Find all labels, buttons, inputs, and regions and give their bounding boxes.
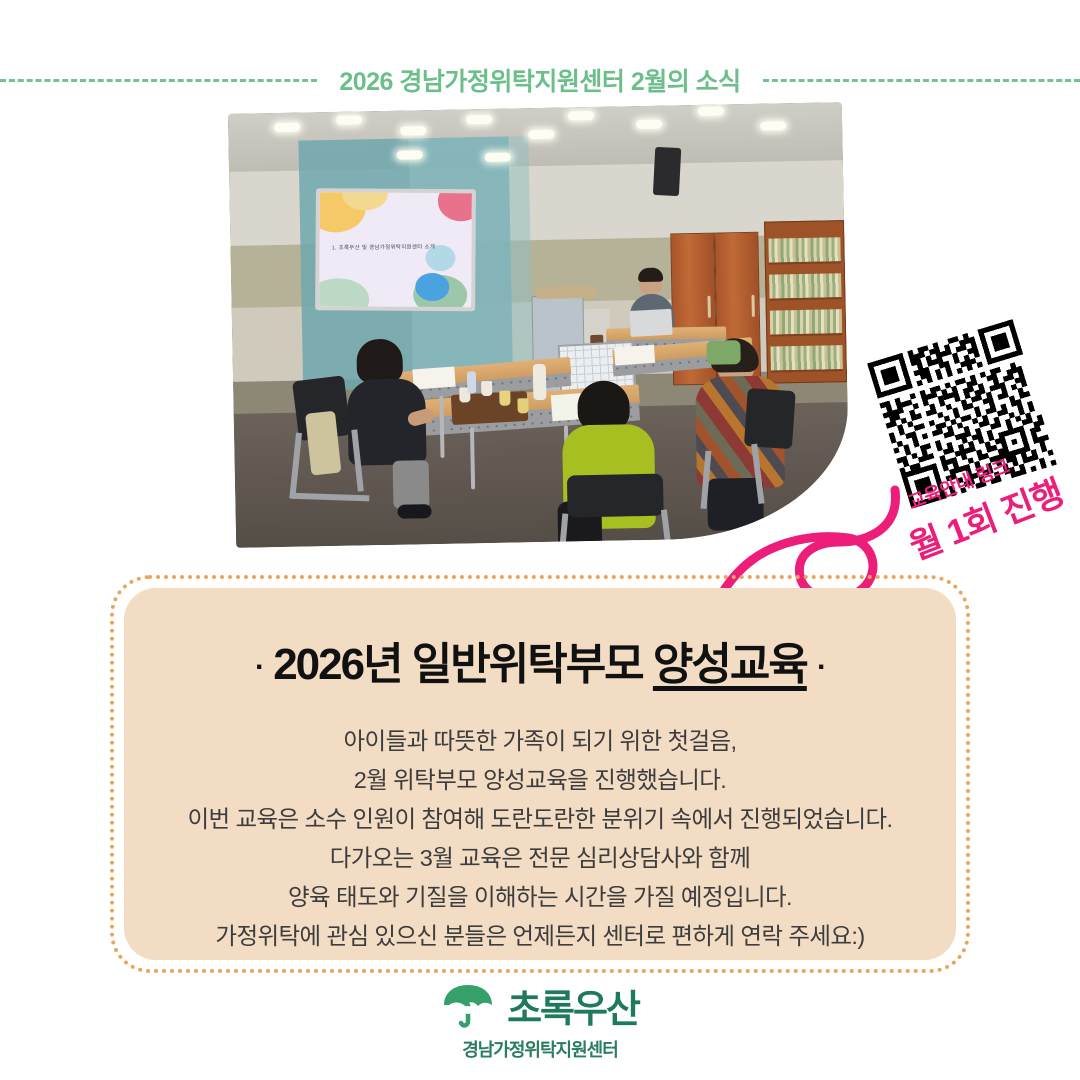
teapot xyxy=(481,381,492,396)
hair xyxy=(638,268,663,282)
bookshelf-row xyxy=(770,309,842,336)
header-title: 2026 경남가정위탁지원센터 2월의 소식 xyxy=(339,62,740,98)
bag-on-chair xyxy=(305,411,341,476)
body-line-2: 2월 위탁부모 양성교육을 진행했습니다. xyxy=(124,761,956,800)
handout xyxy=(412,367,455,390)
green-bag xyxy=(706,340,740,365)
training-photo: 1. 초록우산 및 경남가정위탁지원센터 소개 xyxy=(228,102,850,548)
hair xyxy=(356,339,403,384)
chair xyxy=(744,388,796,449)
logo-brand-name: 초록우산 xyxy=(507,978,639,1033)
bookshelf xyxy=(764,220,847,384)
slide-blob xyxy=(319,278,369,307)
title-underlined-text: 양성교육 xyxy=(653,640,807,689)
projector-screen: 1. 초록우산 및 경남가정위탁지원센터 소개 xyxy=(315,188,476,311)
bookshelf-row xyxy=(769,273,841,300)
teacup xyxy=(499,391,510,406)
slide-title-text: 1. 초록우산 및 경남가정위탁지원센터 소개 xyxy=(332,242,462,251)
teacup xyxy=(517,398,528,413)
bookshelf-row xyxy=(768,237,840,264)
thermos xyxy=(533,364,547,400)
page-header: 2026 경남가정위탁지원센터 2월의 소식 xyxy=(0,60,1080,100)
green-umbrella-icon xyxy=(441,983,497,1029)
title-plain-text: 2026년 일반위탁부모 xyxy=(273,640,642,689)
classroom-scene: 1. 초록우산 및 경남가정위탁지원센터 소개 xyxy=(228,102,850,548)
body-line-1: 아이들과 따뜻한 가족이 되기 위한 첫걸음, xyxy=(124,722,956,761)
ceiling-light xyxy=(485,153,511,162)
slide-blob xyxy=(415,273,449,301)
water-bottle xyxy=(467,371,476,393)
ceiling-light xyxy=(274,123,300,132)
body-line-6: 가정위탁에 관심 있으신 분들은 언제든지 센터로 편하게 연락 주세요:) xyxy=(124,917,956,956)
body-line-4: 다가오는 3월 교육은 전문 심리상담사와 함께 xyxy=(124,839,956,878)
ceiling-light xyxy=(568,111,594,120)
header-dash-left xyxy=(0,79,317,82)
card-body: 아이들과 따뜻한 가족이 되기 위한 첫걸음, 2월 위탁부모 양성교육을 진행… xyxy=(124,722,956,956)
title-dot-left: · xyxy=(255,650,263,683)
ceiling-light xyxy=(636,120,662,129)
slide-blob xyxy=(438,192,472,221)
footer-logo: 초록우산 경남가정위탁지원센터 xyxy=(0,978,1080,1062)
ceiling-light xyxy=(400,126,426,135)
ceiling-light xyxy=(760,121,786,130)
bookshelf-row xyxy=(770,345,842,372)
body-line-5: 양육 태도와 기질을 이해하는 시간을 가질 예정입니다. xyxy=(124,878,956,917)
ceiling-light xyxy=(336,115,362,124)
laptop xyxy=(629,309,672,337)
title-dot-right: · xyxy=(817,650,825,683)
card-title: · 2026년 일반위탁부모 양성교육 · xyxy=(124,628,956,692)
ceiling-light xyxy=(698,106,724,115)
header-dash-right xyxy=(763,79,1080,82)
presentation-slide: 1. 초록우산 및 경남가정위탁지원센터 소개 xyxy=(319,192,472,307)
body-line-3: 이번 교육은 소수 인원이 참여해 도란도란한 분위기 속에서 진행되었습니다. xyxy=(124,800,956,839)
logo-row: 초록우산 xyxy=(441,978,639,1033)
content-card: · 2026년 일반위탁부모 양성교육 · 아이들과 따뜻한 가족이 되기 위한… xyxy=(124,588,956,960)
legs xyxy=(393,460,430,509)
ceiling-light xyxy=(466,115,492,124)
chair xyxy=(567,474,664,518)
ceiling-light xyxy=(528,130,554,139)
ceiling-light xyxy=(397,150,423,159)
wall-speaker xyxy=(653,147,681,196)
shoe xyxy=(397,504,431,519)
handout xyxy=(614,345,655,366)
logo-subtitle: 경남가정위탁지원센터 xyxy=(462,1036,618,1062)
